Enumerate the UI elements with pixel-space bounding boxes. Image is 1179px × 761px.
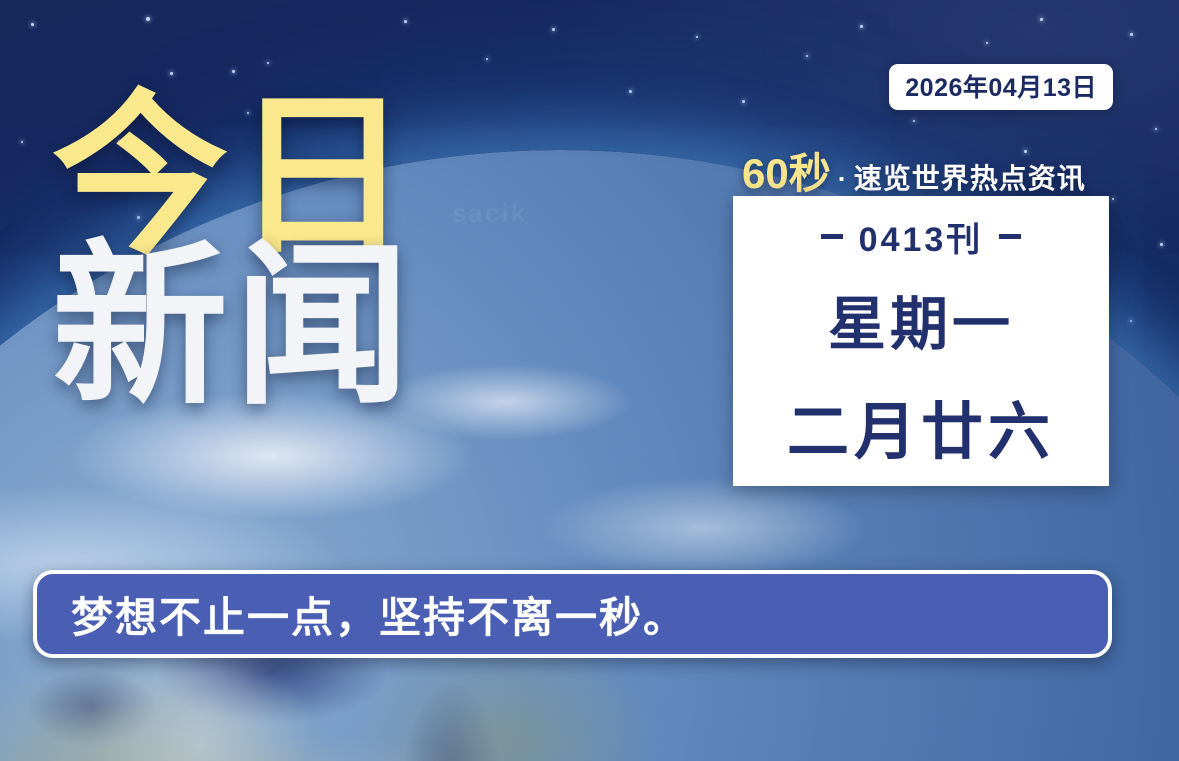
news-poster: sacik 今日 新闻 2026年04月13日 60秒 · 速览世界热点资讯 0… xyxy=(0,0,1179,761)
issue-number-row: 0413刊 xyxy=(821,212,1022,261)
subtitle-description: 速览世界热点资讯 xyxy=(854,157,1086,197)
issue-number: 0413刊 xyxy=(859,212,984,261)
weekday-label: 星期一 xyxy=(828,277,1014,361)
subtitle-seconds: 60秒 xyxy=(742,140,831,201)
lunar-date-label: 二月廿六 xyxy=(787,381,1055,471)
subtitle: 60秒 · 速览世界热点资讯 xyxy=(742,140,1086,201)
title-line-xinwen: 新闻 xyxy=(52,246,416,410)
quote-text: 梦想不止一点，坚持不离一秒。 xyxy=(71,584,687,645)
dash-left-icon xyxy=(821,234,843,239)
subtitle-separator: · xyxy=(838,164,847,195)
date-info-card: 0413刊 星期一 二月廿六 xyxy=(733,196,1109,486)
date-badge: 2026年04月13日 xyxy=(889,64,1113,110)
dash-right-icon xyxy=(999,234,1021,239)
quote-banner: 梦想不止一点，坚持不离一秒。 xyxy=(33,570,1112,658)
page-title: 今日 新闻 xyxy=(52,96,416,409)
watermark-text: sacik xyxy=(452,198,527,229)
